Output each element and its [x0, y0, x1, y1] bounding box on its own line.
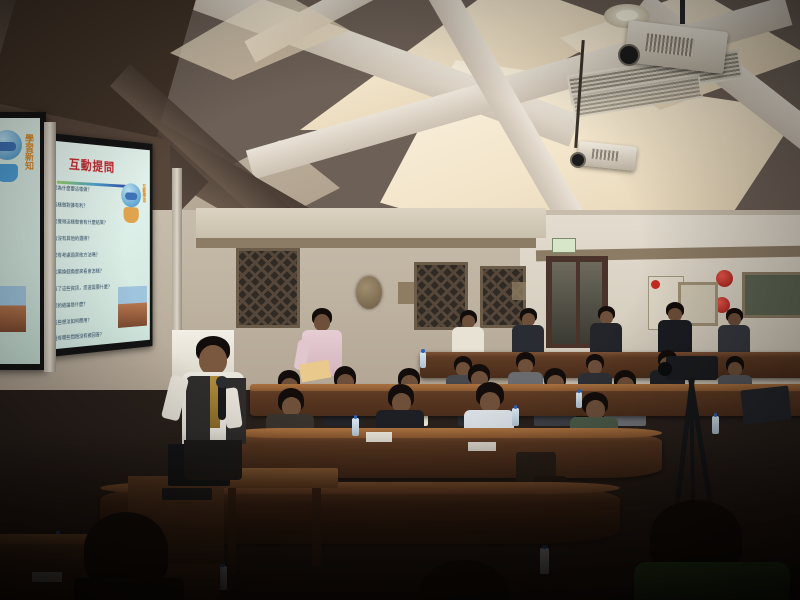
desk-papers — [366, 432, 392, 442]
slide-bullet: 有了這些資訊，您還需要什麼？ — [53, 283, 112, 292]
wall-plaque-tiny — [512, 282, 526, 300]
lattice-panel-left — [236, 248, 300, 328]
water-bottle — [420, 352, 426, 368]
projection-screen-main: 互動提問 您為什麼要這樣做？ 這樣做對誰有利？ 您覺得這樣做會有什麼結果？ 有沒… — [46, 140, 150, 350]
fire-alarm-red-light — [651, 280, 660, 289]
lecture-hall-photo: 互動提問 您為什麼要這樣做？ 這樣做對誰有利？ 您覺得這樣做會有什麼結果？ 有沒… — [0, 0, 800, 600]
projector-lens-icon — [618, 44, 640, 66]
slide-title: 互動提問 — [69, 154, 115, 176]
exit-sign — [552, 238, 576, 253]
desk-papers-2 — [468, 442, 496, 451]
water-bottle — [576, 392, 582, 408]
institution-emblem — [356, 276, 382, 309]
ceiling-projector-secondary — [568, 140, 638, 174]
water-bottle — [352, 418, 359, 436]
slide-bullet: 還有哪些問題沒有被回答？ — [53, 331, 104, 342]
speaker-vest — [186, 376, 210, 444]
camera-lens-icon — [658, 362, 672, 376]
fire-alarm-bell-upper — [716, 270, 733, 287]
slide-photo — [118, 286, 147, 328]
slide-bullet: 您覺得這樣做會有什麼結果？ — [53, 218, 108, 226]
presenter-speaker — [168, 336, 260, 476]
desk-surface-front — [232, 428, 662, 438]
side-screen: 學習新知 — [0, 118, 40, 364]
keyboard — [162, 488, 212, 500]
podium-table-leg — [228, 488, 236, 574]
slide-bullet: 這些想法如何應用？ — [53, 317, 91, 327]
video-camera — [666, 356, 718, 380]
water-bottle — [512, 408, 519, 426]
slide-bullet: 這樣做對誰有利？ — [53, 201, 87, 209]
screen-mullion — [44, 122, 56, 372]
foreground-attendee-center — [416, 560, 526, 600]
foreground-attendee-left — [78, 512, 188, 600]
slide-bullet: 有沒有其他的選擇？ — [53, 235, 91, 242]
slide-bullet: 您的結論是什麼？ — [53, 301, 87, 310]
ceiling-projector-main — [618, 20, 728, 76]
speaker-trousers — [184, 440, 242, 480]
laptop — [740, 386, 791, 425]
microphone-head-icon — [216, 376, 228, 388]
slide-mascot-label: 互動學習 — [142, 184, 147, 202]
wall-upper-light — [196, 208, 546, 238]
foreground-attendee-right — [640, 500, 790, 600]
slide-bullet: 如果換個角度來看會怎樣？ — [53, 268, 104, 276]
wall-plaque-small — [398, 282, 414, 304]
desk-papers-3 — [32, 572, 62, 582]
slide-bullet: 您為什麼要這樣做？ — [53, 184, 91, 193]
side-screen-text: 學習新知 — [23, 134, 36, 170]
podium-table-leg-2 — [312, 488, 321, 566]
slide-bullet: 您有考慮過其他方法嗎？ — [53, 252, 100, 259]
water-bottle — [540, 548, 549, 574]
